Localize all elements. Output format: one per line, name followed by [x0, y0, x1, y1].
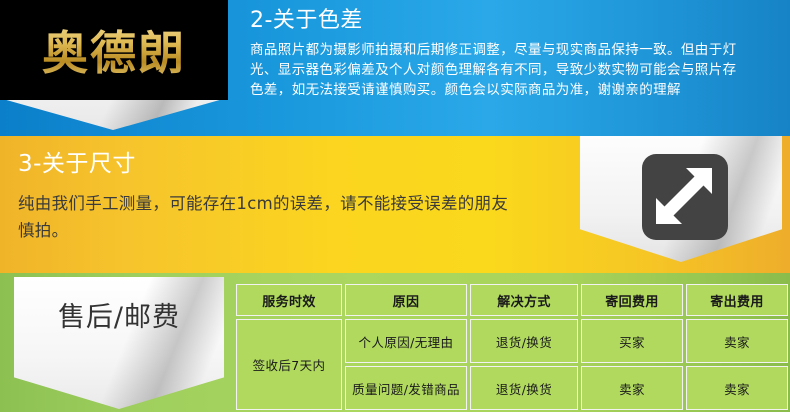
table-header-ship-fee: 寄出费用	[686, 284, 788, 316]
size-body: 纯由我们手工测量，可能存在1cm的误差，请不能接受误差的朋友慎拍。	[18, 190, 518, 244]
section-color-difference: 奥德朗 2-关于色差 商品照片都为摄影师拍摄和后期修正调整，尽量与现实商品保持一…	[0, 0, 790, 136]
table-header-service-period: 服务时效	[236, 284, 342, 316]
table-row: 签收后7天内 个人原因/无理由 退货/换货 买家 卖家	[236, 319, 788, 363]
cell-reason-2: 质量问题/发错商品	[345, 366, 467, 410]
cell-return-fee-1: 买家	[581, 319, 683, 363]
table-header-return-fee: 寄回费用	[581, 284, 683, 316]
aftersale-label: 售后/邮费	[14, 295, 224, 334]
section-size-info: 3-关于尺寸 纯由我们手工测量，可能存在1cm的误差，请不能接受误差的朋友慎拍。	[0, 136, 790, 273]
cell-ship-fee-2: 卖家	[686, 366, 788, 410]
cell-service-period: 签收后7天内	[236, 319, 342, 410]
brand-logo-text: 奥德朗	[42, 17, 186, 83]
size-heading: 3-关于尺寸	[18, 148, 558, 180]
cell-solution-2: 退货/换货	[470, 366, 578, 410]
resize-diagonal-arrow-icon	[642, 154, 728, 240]
cell-return-fee-2: 卖家	[581, 366, 683, 410]
color-difference-body: 商品照片都为摄影师拍摄和后期修正调整，尽量与现实商品保持一致。但由于灯光、显示器…	[250, 40, 748, 100]
table-header-row: 服务时效 原因 解决方式 寄回费用 寄出费用	[236, 284, 788, 316]
table-header-reason: 原因	[345, 284, 467, 316]
table-header-solution: 解决方式	[470, 284, 578, 316]
cell-ship-fee-1: 卖家	[686, 319, 788, 363]
color-difference-heading: 2-关于色差	[250, 6, 780, 36]
brand-logo-box: 奥德朗	[0, 0, 228, 100]
cell-solution-1: 退货/换货	[470, 319, 578, 363]
size-text-block: 3-关于尺寸 纯由我们手工测量，可能存在1cm的误差，请不能接受误差的朋友慎拍。	[18, 148, 558, 244]
color-difference-text-block: 2-关于色差 商品照片都为摄影师拍摄和后期修正调整，尽量与现实商品保持一致。但由…	[250, 6, 780, 100]
cell-reason-1: 个人原因/无理由	[345, 319, 467, 363]
aftersale-policy-table: 服务时效 原因 解决方式 寄回费用 寄出费用 签收后7天内 个人原因/无理由 退…	[233, 281, 790, 412]
promo-banner-page: 奥德朗 2-关于色差 商品照片都为摄影师拍摄和后期修正调整，尽量与现实商品保持一…	[0, 0, 790, 412]
